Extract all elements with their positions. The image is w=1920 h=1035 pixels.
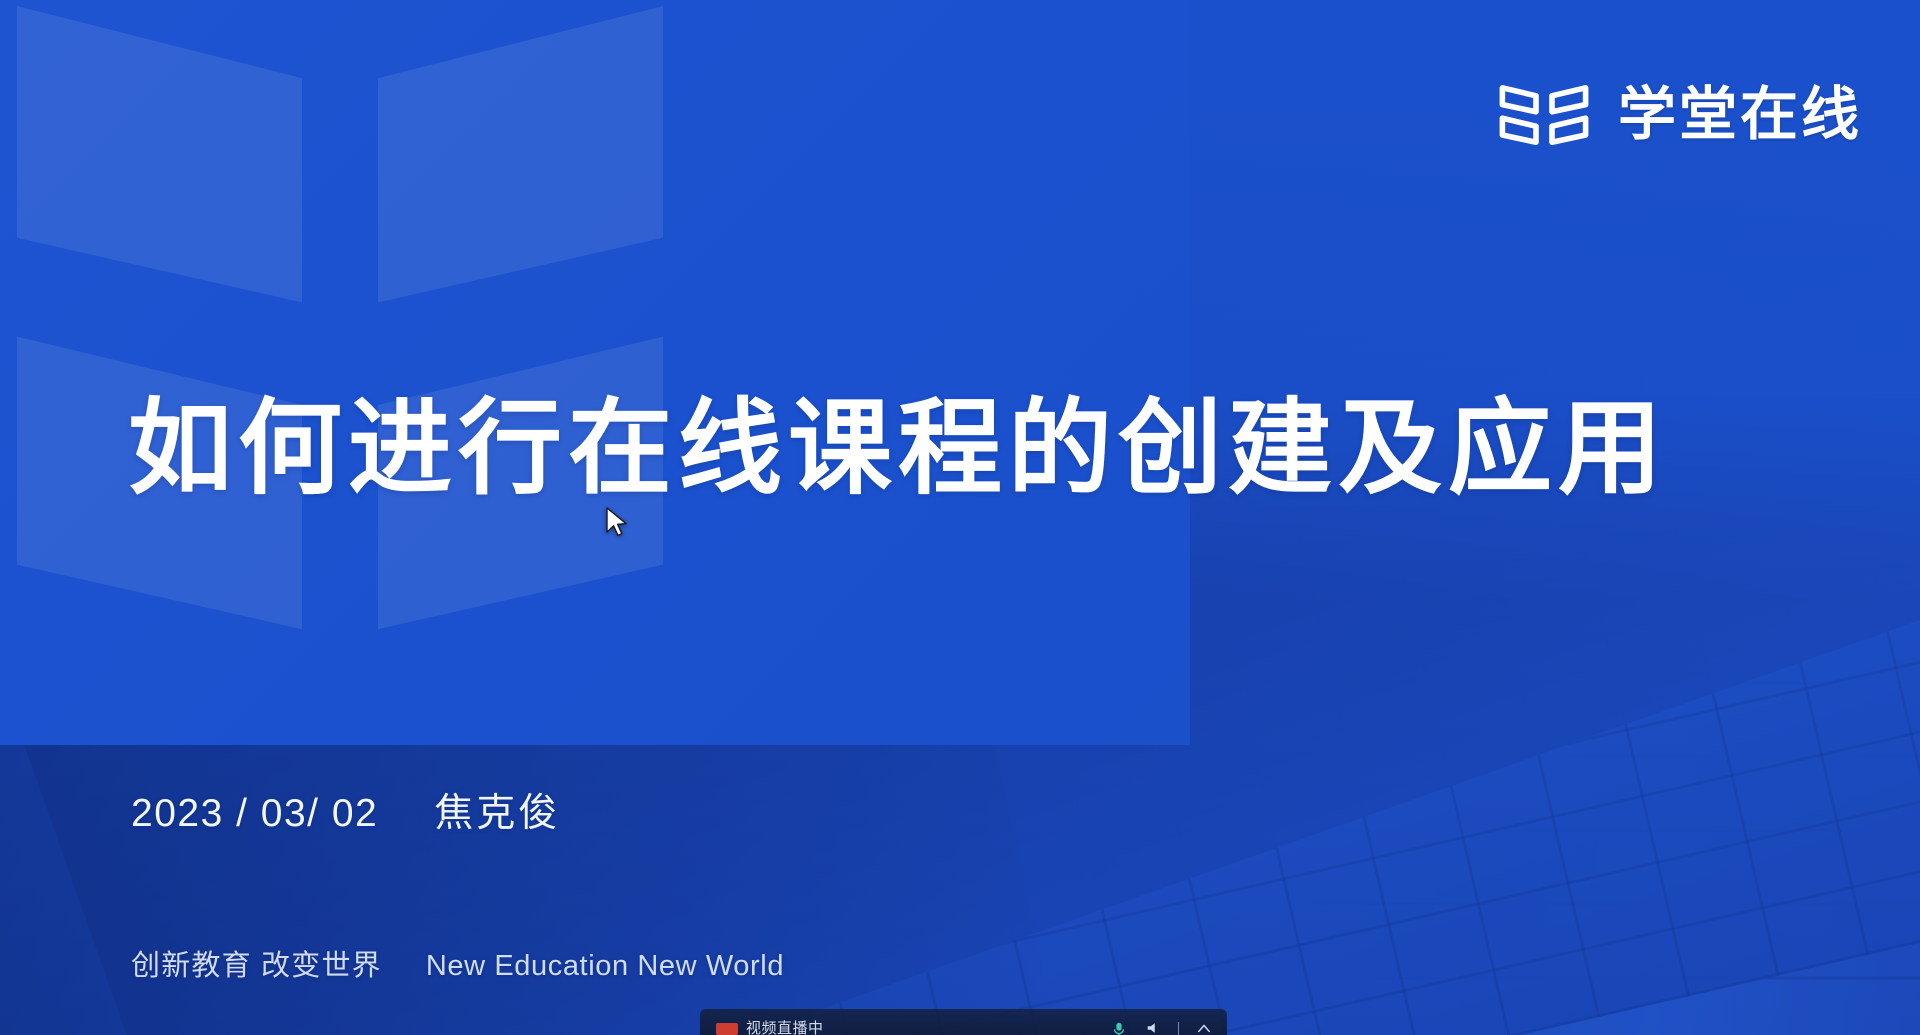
arrow-pointer-icon: [604, 506, 630, 540]
toolbar-status-group: 视频直播中: [716, 1023, 824, 1035]
speaker-volume-icon[interactable]: [1144, 1021, 1162, 1035]
background-photo: [0, 0, 1920, 1035]
background-tower-face: [1276, 488, 1920, 1035]
slide-meta: 2023 / 03/ 02 焦克俊: [131, 782, 560, 838]
brand-lockup: 学堂在线: [1496, 78, 1862, 152]
background-sky: [0, 0, 1920, 1035]
xuetangx-book-logo-icon: [1496, 78, 1592, 152]
toolbar-divider: [1178, 1022, 1179, 1035]
slide-date: 2023 / 03/ 02: [131, 792, 378, 836]
toolbar-controls-group[interactable]: [1110, 1021, 1213, 1035]
slogan-english: New Education New World: [426, 950, 784, 983]
background-building-facade: [269, 104, 1920, 1035]
recording-badge-icon: [716, 1023, 738, 1035]
background-flat-field: [0, 0, 1190, 745]
slide-speaker: 焦克俊: [434, 782, 560, 838]
microphone-icon[interactable]: [1110, 1021, 1128, 1035]
background-roof-edge: [0, 0, 1920, 367]
slide-slogan: 创新教育 改变世界 New Education New World: [131, 942, 784, 984]
background-roof-band: [0, 0, 1920, 1035]
slide-title: 如何进行在线课程的创建及应用: [128, 388, 1668, 511]
brand-name: 学堂在线: [1618, 86, 1862, 144]
toolbar-status-label: 视频直播中: [746, 1023, 824, 1035]
brand-watermark-icon: [0, 0, 720, 690]
slogan-chinese: 创新教育 改变世界: [131, 942, 382, 984]
chevron-up-icon[interactable]: [1195, 1021, 1213, 1035]
presentation-slide: 学堂在线 如何进行在线课程的创建及应用 2023 / 03/ 02 焦克俊 创新…: [0, 0, 1920, 1035]
live-streaming-toolbar[interactable]: 视频直播中: [700, 1009, 1227, 1035]
background-blue-wash: [0, 0, 1920, 1035]
